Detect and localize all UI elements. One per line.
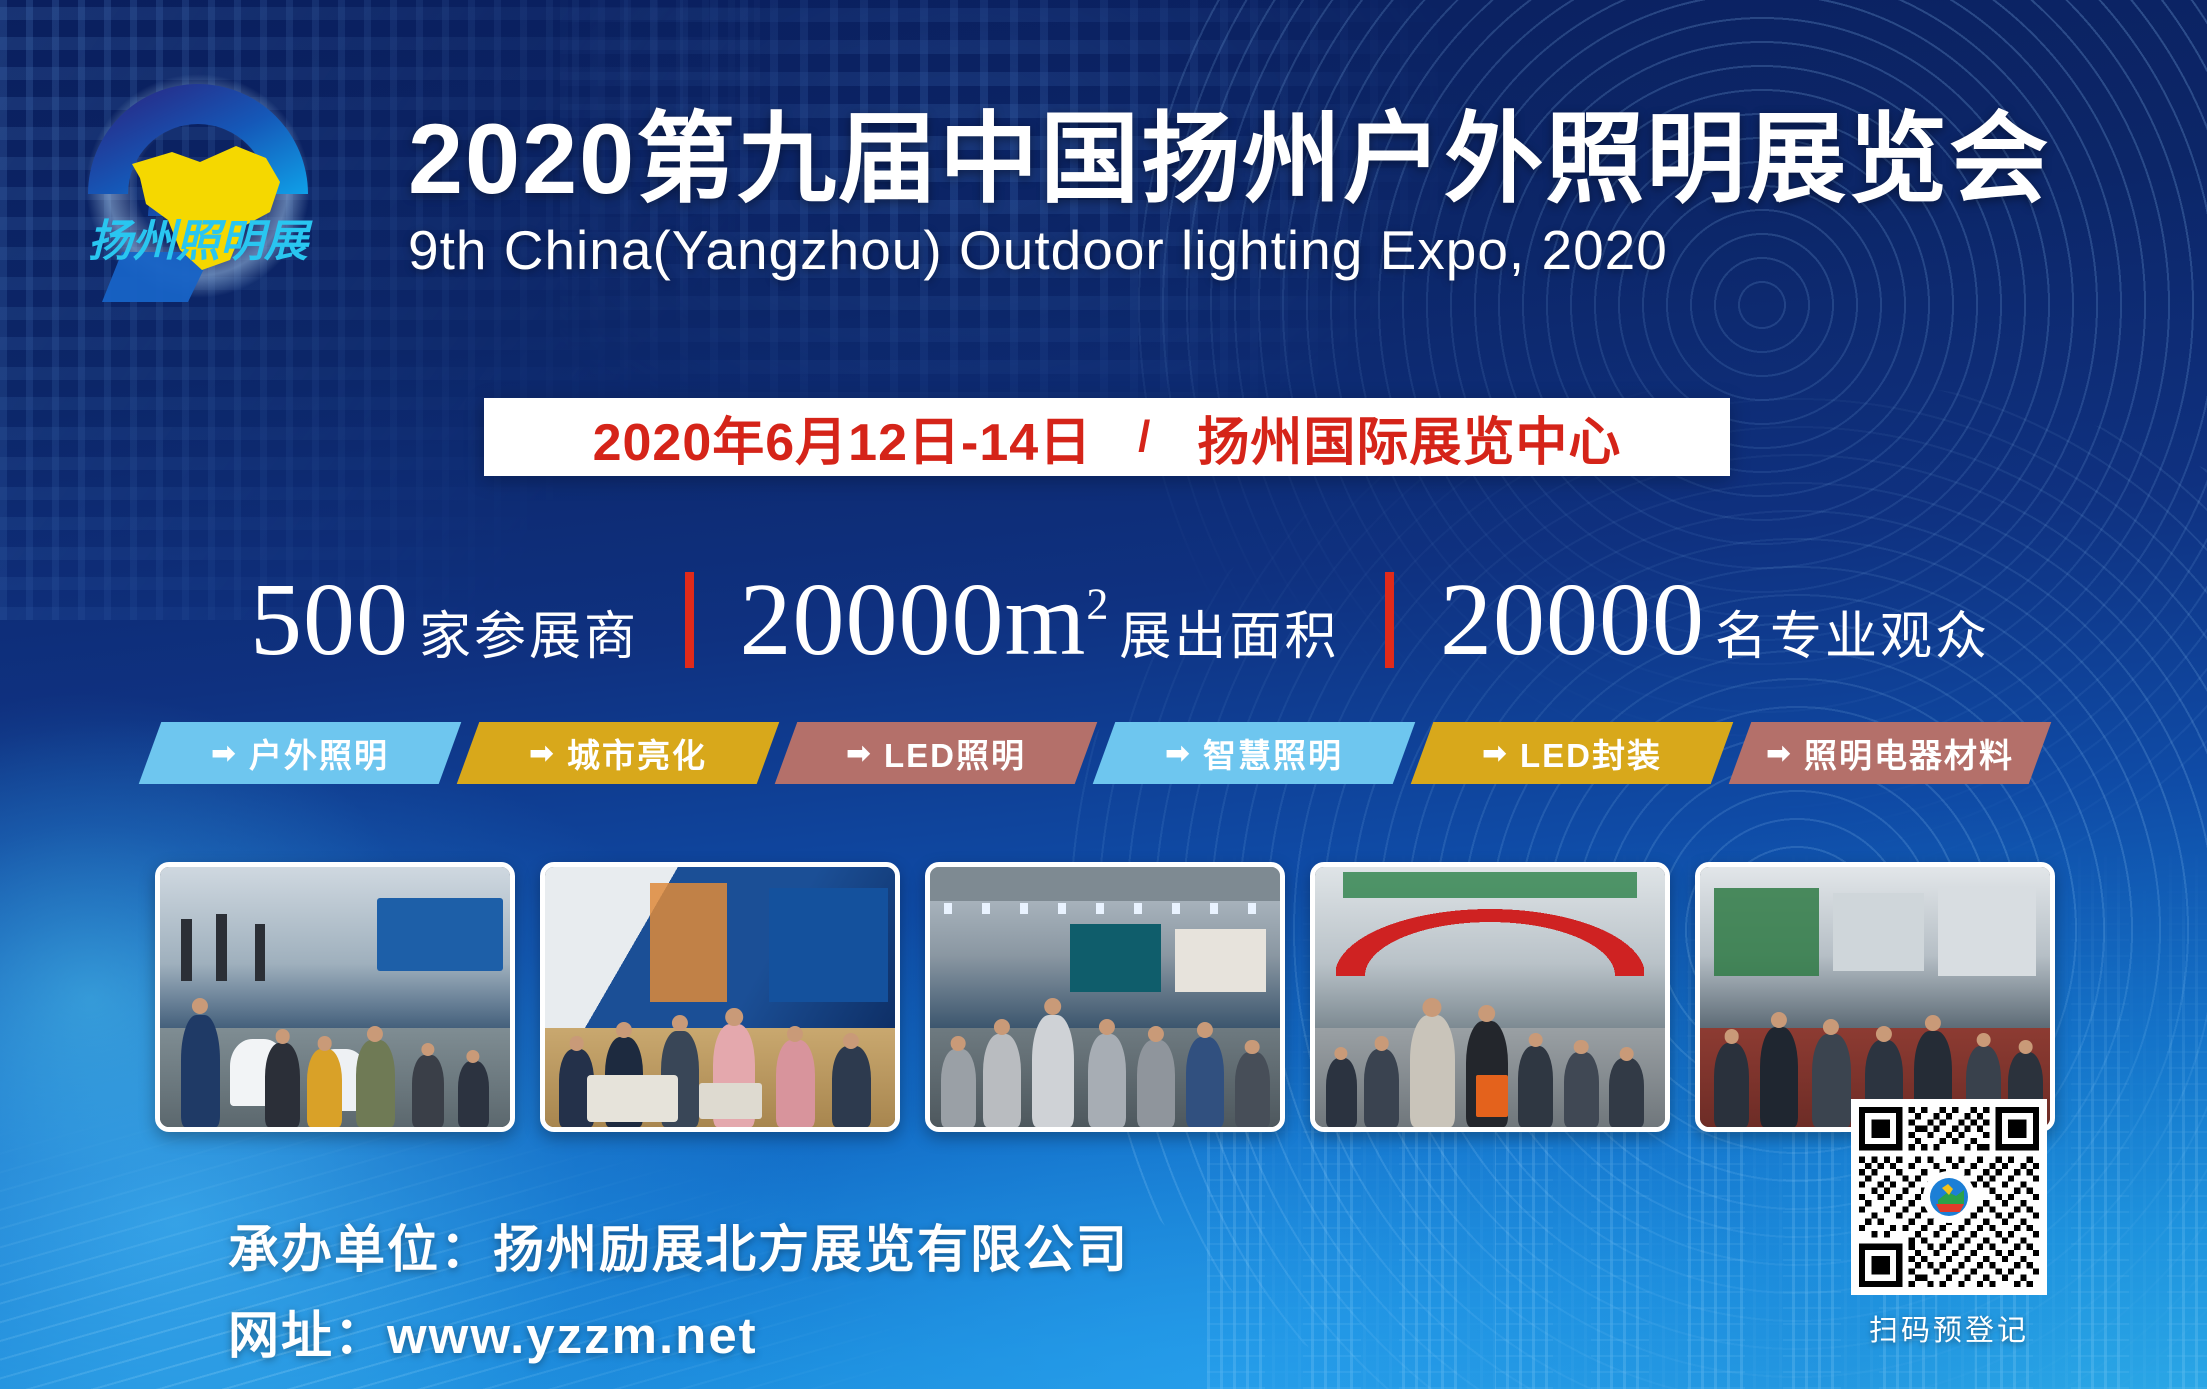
stat-visitors-number: 20000 bbox=[1440, 568, 1705, 672]
organizer-line: 承办单位：扬州励展北方展览有限公司 bbox=[228, 1208, 1129, 1282]
arrow-icon: ➡ bbox=[1766, 736, 1793, 771]
stats-row: 500 家参展商 20000m2 展出面积 20000 名专业观众 bbox=[250, 560, 1990, 680]
qr-code[interactable] bbox=[1851, 1099, 2047, 1295]
stat-area-unit: 展出面积 bbox=[1119, 594, 1339, 669]
arrow-icon: ➡ bbox=[846, 736, 873, 771]
expo-logo-mark: 扬州照明展 bbox=[62, 66, 334, 316]
stat-visitors: 20000 名专业观众 bbox=[1440, 568, 1990, 672]
poster-title-en: 9th China(Yangzhou) Outdoor lighting Exp… bbox=[408, 222, 2068, 280]
arrow-icon: ➡ bbox=[1165, 736, 1192, 771]
stat-area-number: 20000m2 bbox=[740, 568, 1110, 672]
photo-booth-meeting bbox=[155, 862, 515, 1132]
arrow-icon: ➡ bbox=[1482, 736, 1509, 771]
tag-label: 城市亮化 bbox=[567, 729, 707, 777]
tag-label: 智慧照明 bbox=[1203, 729, 1343, 777]
qr-center-logo bbox=[1926, 1174, 1972, 1220]
tag-smart-lighting[interactable]: ➡ 智慧照明 bbox=[1093, 722, 1416, 784]
stat-divider-2 bbox=[1385, 572, 1394, 668]
tag-outdoor-lighting[interactable]: ➡ 户外照明 bbox=[139, 722, 462, 784]
qr-caption: 扫码预登记 bbox=[1851, 1307, 2047, 1349]
event-venue: 扬州国际展览中心 bbox=[1197, 400, 1621, 475]
banner-separator: / bbox=[1138, 412, 1151, 462]
photo-main-stage-crowd bbox=[925, 862, 1285, 1132]
website-line: 网址：www.yzzm.net bbox=[228, 1294, 1129, 1368]
logo-text: 扬州照明展 bbox=[88, 216, 313, 267]
photo-entrance-arch bbox=[1310, 862, 1670, 1132]
expo-logo: 扬州照明展 bbox=[62, 66, 334, 316]
photo-product-display bbox=[540, 862, 900, 1132]
title-block: 2020第九届中国扬州户外照明展览会 9th China(Yangzhou) O… bbox=[408, 108, 2068, 280]
event-date: 2020年6月12日-14日 bbox=[593, 400, 1093, 475]
stat-exhibitors-unit: 家参展商 bbox=[419, 594, 639, 669]
photo-exhibition-aisle bbox=[1695, 862, 2055, 1132]
footer-info: 承办单位：扬州励展北方展览有限公司 网址：www.yzzm.net bbox=[228, 1208, 1129, 1368]
stat-exhibitors: 500 家参展商 bbox=[250, 568, 639, 672]
tag-label: LED封装 bbox=[1520, 729, 1662, 777]
tag-label: 照明电器材料 bbox=[1804, 729, 2014, 777]
arrow-icon: ➡ bbox=[529, 736, 556, 771]
date-venue-banner: 2020年6月12日-14日 / 扬州国际展览中心 bbox=[484, 398, 1730, 476]
category-tags: ➡ 户外照明 ➡ 城市亮化 ➡ LED照明 ➡ 智慧照明 ➡ LED封装 ➡ 照… bbox=[150, 722, 2080, 784]
stat-exhibitors-number: 500 bbox=[250, 568, 409, 672]
poster-root: 扬州照明展 2020第九届中国扬州户外照明展览会 9th China(Yangz… bbox=[0, 0, 2207, 1389]
poster-title-cn: 2020第九届中国扬州户外照明展览会 bbox=[408, 108, 2068, 210]
stat-area: 20000m2 展出面积 bbox=[740, 568, 1340, 672]
stat-visitors-unit: 名专业观众 bbox=[1715, 594, 1990, 669]
tag-label: 户外照明 bbox=[249, 729, 389, 777]
qr-block: 扫码预登记 bbox=[1851, 1099, 2047, 1349]
arrow-icon: ➡ bbox=[211, 736, 238, 771]
tag-label: LED照明 bbox=[884, 729, 1026, 777]
tag-led-packaging[interactable]: ➡ LED封装 bbox=[1411, 722, 1734, 784]
tag-city-illumination[interactable]: ➡ 城市亮化 bbox=[457, 722, 780, 784]
tag-led-lighting[interactable]: ➡ LED照明 bbox=[775, 722, 1098, 784]
stat-divider-1 bbox=[685, 572, 694, 668]
photo-strip bbox=[155, 862, 2055, 1132]
tag-lighting-materials[interactable]: ➡ 照明电器材料 bbox=[1729, 722, 2052, 784]
